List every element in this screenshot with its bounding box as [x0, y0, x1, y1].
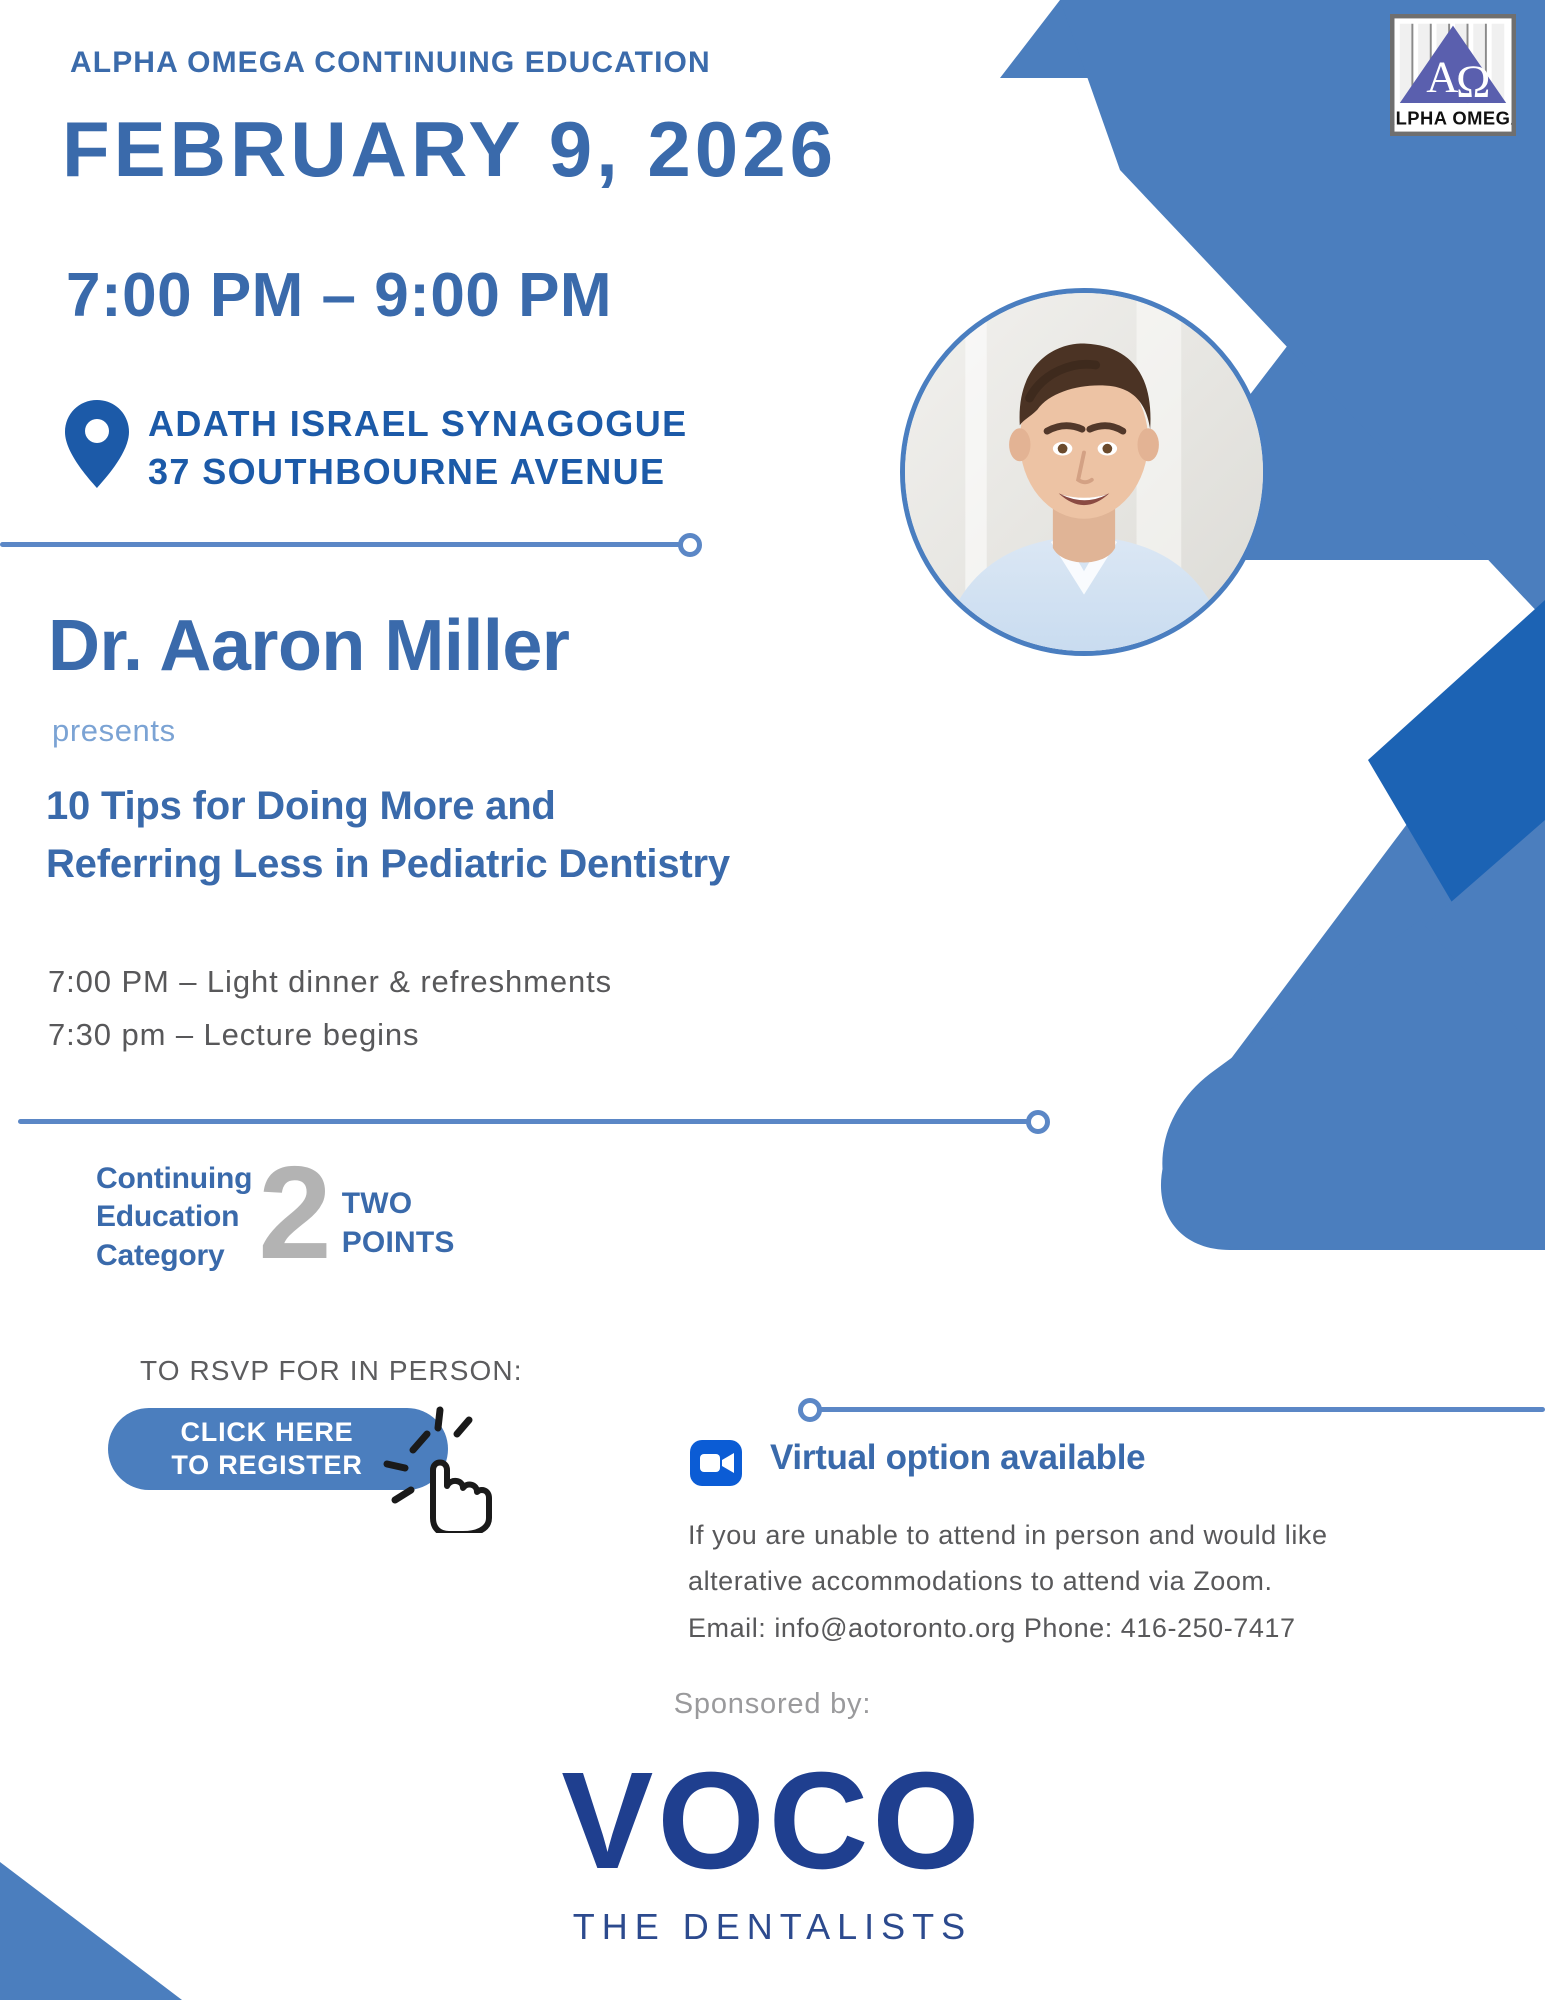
- schedule-list: 7:00 PM – Light dinner & refreshments 7:…: [48, 955, 612, 1062]
- ce-points-line-2: POINTS: [342, 1224, 455, 1262]
- ce-points-label: TWO POINTS: [342, 1185, 455, 1262]
- divider-virtual: [800, 1398, 1545, 1422]
- lecture-title: 10 Tips for Doing More and Referring Les…: [46, 777, 1046, 893]
- ce-points-line-1: TWO: [342, 1185, 455, 1223]
- alpha-omega-logo: A Ω ALPHA OMEGA: [1390, 14, 1516, 136]
- lecture-title-line-1: 10 Tips for Doing More and: [46, 777, 1046, 835]
- page-kicker: ALPHA OMEGA CONTINUING EDUCATION: [70, 46, 711, 80]
- schedule-item: 7:00 PM – Light dinner & refreshments: [48, 955, 612, 1008]
- divider-middle: [18, 1110, 1048, 1134]
- speaker-headshot: [900, 288, 1268, 656]
- speaker-name: Dr. Aaron Miller: [48, 605, 569, 687]
- blue-ribbon-lower: [1195, 820, 1545, 1250]
- map-pin-icon: [62, 398, 132, 490]
- voco-logo: VOCO THE DENTALISTS: [538, 1752, 1008, 1942]
- blue-ribbon-curve: [1162, 920, 1545, 1250]
- venue-name: ADATH ISRAEL SYNAGOGUE: [148, 400, 688, 448]
- register-button-line-2: TO REGISTER: [171, 1450, 362, 1480]
- virtual-option-body: If you are unable to attend in person an…: [688, 1512, 1518, 1651]
- divider-dot: [1026, 1110, 1050, 1134]
- ce-label-line-3: Category: [96, 1237, 252, 1275]
- divider-bar: [0, 542, 700, 547]
- divider-dot: [678, 533, 702, 557]
- voco-wordmark: VOCO: [538, 1752, 1008, 1890]
- rsvp-label: TO RSVP FOR IN PERSON:: [140, 1355, 523, 1387]
- svg-text:A: A: [1426, 51, 1458, 101]
- venue-info: ADATH ISRAEL SYNAGOGUE 37 SOUTHBOURNE AV…: [148, 400, 688, 496]
- zoom-video-icon: [690, 1440, 742, 1486]
- sponsored-by-label: Sponsored by:: [0, 1688, 1545, 1721]
- virtual-body-line-2: alterative accommodations to attend via …: [688, 1558, 1518, 1604]
- schedule-item: 7:30 pm – Lecture begins: [48, 1008, 612, 1061]
- ce-category-number: 2: [258, 1162, 331, 1265]
- blue-corner-bottom-left: [0, 1862, 182, 2000]
- event-date: FEBRUARY 9, 2026: [62, 104, 837, 195]
- ce-credit-block: Continuing Education Category 2 TWO POIN…: [96, 1160, 455, 1275]
- virtual-body-line-1: If you are unable to attend in person an…: [688, 1512, 1518, 1558]
- virtual-option-heading: Virtual option available: [770, 1438, 1145, 1478]
- register-button-line-1: CLICK HERE: [180, 1417, 353, 1447]
- blue-wedge-top: [1161, 0, 1545, 1250]
- svg-text:ALPHA OMEGA: ALPHA OMEGA: [1392, 107, 1514, 128]
- event-time-range: 7:00 PM – 9:00 PM: [66, 260, 612, 331]
- svg-text:Ω: Ω: [1456, 57, 1491, 108]
- ce-label-line-1: Continuing: [96, 1160, 252, 1198]
- divider-bar: [800, 1407, 1545, 1412]
- blue-triangle-dark: [1368, 600, 1545, 1060]
- presents-label: presents: [52, 713, 176, 749]
- divider-dot: [798, 1398, 822, 1422]
- voco-tagline: THE DENTALISTS: [538, 1906, 1008, 1948]
- virtual-body-line-3: Email: info@aotoronto.org Phone: 416-250…: [688, 1605, 1518, 1651]
- divider-top: [0, 533, 700, 557]
- click-hand-icon: [365, 1398, 500, 1533]
- venue-address: 37 SOUTHBOURNE AVENUE: [148, 448, 688, 496]
- ce-label-line-2: Education: [96, 1198, 252, 1236]
- divider-bar: [18, 1119, 1048, 1124]
- lecture-title-line-2: Referring Less in Pediatric Dentistry: [46, 835, 1046, 893]
- ce-category-label: Continuing Education Category: [96, 1160, 252, 1275]
